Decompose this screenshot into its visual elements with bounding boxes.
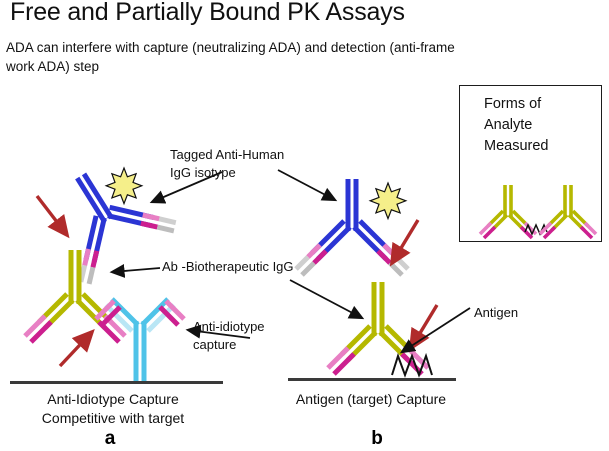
leader-arrow-antigen-to-panel-b (402, 308, 470, 352)
panel-a-biotherapeutic-igg (25, 250, 125, 342)
legend-title-line-1: Forms of (484, 94, 594, 115)
legend-title-line-2: Analyte (484, 115, 594, 136)
legend-title-line-3: Measured (484, 136, 594, 157)
baseline-panel-a (10, 381, 223, 384)
panel-b-biotherapeutic-igg (328, 282, 428, 374)
subtitle-text: ADA can interfere with capture (neutrali… (6, 38, 476, 76)
leader-arrow-biotx-to-panel-a (112, 268, 160, 272)
label-tagged-anti-human-igg: Tagged Anti-Human IgG isotype (170, 146, 298, 181)
panel-a-anti-idiotype-capture (96, 299, 184, 381)
panel-a-tagged-anti-human-igg (33, 146, 179, 287)
legend-title: Forms of Analyte Measured (484, 94, 594, 157)
leader-arrow-biotx-to-panel-b (290, 280, 362, 318)
baseline-panel-b (288, 378, 456, 381)
panel-b-antigen-squiggle (392, 356, 432, 375)
label-antigen: Antigen (474, 304, 564, 322)
panel-b-ada-interference-arrow-1 (392, 220, 418, 263)
caption-panel-b-line-1: Antigen (target) Capture (285, 390, 457, 409)
panel-a-ada-interference-arrow-2 (60, 332, 92, 366)
panel-letter-b: b (355, 428, 399, 450)
panel-b-ada-interference-arrow-2 (411, 305, 437, 348)
page-title: Free and Partially Bound PK Assays (10, 0, 405, 27)
label-biotherapeutic-igg: Ab -Biotherapeutic IgG (162, 258, 302, 276)
caption-panel-b: Antigen (target) Capture (285, 390, 457, 409)
caption-panel-a-line-2: Competitive with target (8, 409, 218, 428)
label-anti-idiotype-capture: Anti-idiotype capture (193, 318, 297, 353)
panel-b-tagged-anti-human-igg (296, 179, 408, 275)
caption-panel-a-line-1: Anti-Idiotype Capture (8, 390, 218, 409)
panel-b-tag-star-icon (370, 183, 406, 219)
panel-a-ada-interference-arrow-1 (37, 196, 67, 235)
caption-panel-a: Anti-Idiotype Capture Competitive with t… (8, 390, 218, 428)
panel-a-tag-star-icon (106, 168, 142, 204)
panel-letter-a: a (88, 428, 132, 450)
